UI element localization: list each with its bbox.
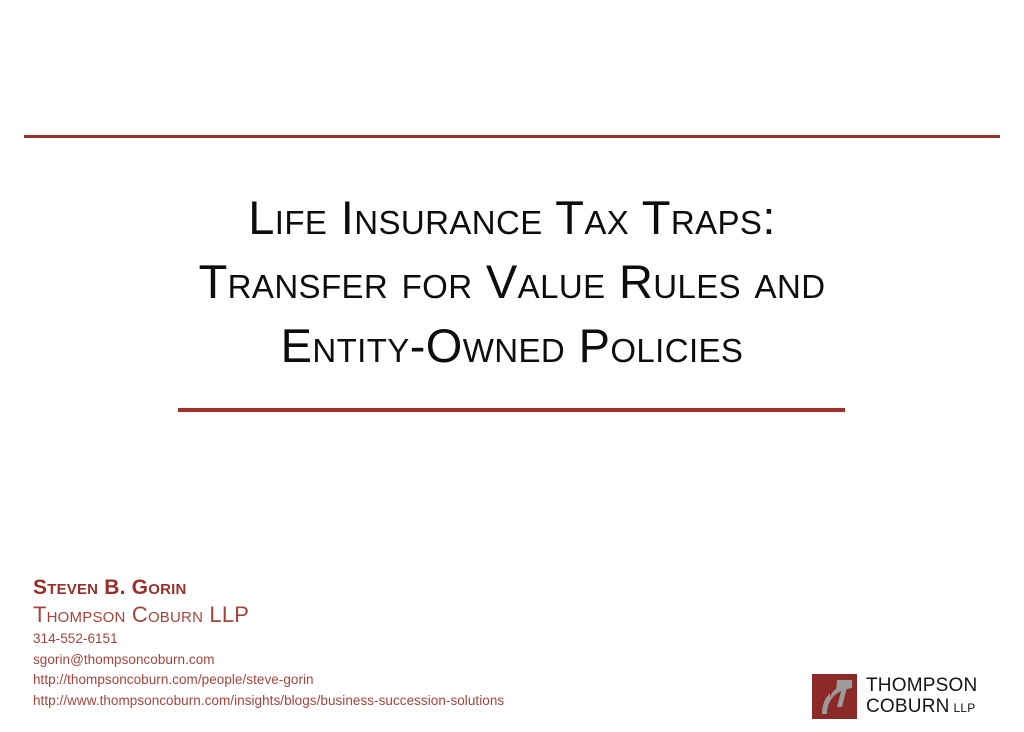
title-line-1: Life Insurance Tax Traps: <box>0 186 1024 250</box>
top-divider-rule <box>24 135 1000 138</box>
presenter-phone: 314-552-6151 <box>33 629 504 650</box>
title-line-2: Transfer for Value Rules and <box>0 250 1024 314</box>
presenter-email[interactable]: sgorin@thompsoncoburn.com <box>33 650 504 671</box>
thompson-coburn-logo: THOMPSON COBURN LLP <box>812 673 977 720</box>
logo-word-thompson: THOMPSON <box>866 675 977 696</box>
title-line-3: Entity-Owned Policies <box>0 314 1024 378</box>
presenter-name: Steven B. Gorin <box>33 574 504 601</box>
presenter-contact-block: Steven B. Gorin Thompson Coburn LLP 314-… <box>33 574 504 711</box>
logo-word-llp: LLP <box>954 698 976 719</box>
presenter-profile-link[interactable]: http://thompsoncoburn.com/people/steve-g… <box>33 670 504 691</box>
thompson-coburn-wordmark: THOMPSON COBURN LLP <box>866 675 977 719</box>
presenter-blog-link[interactable]: http://www.thompsoncoburn.com/insights/b… <box>33 691 504 712</box>
title-underline-rule <box>178 408 845 412</box>
logo-word-coburn-row: COBURN LLP <box>866 696 977 719</box>
page-title: Life Insurance Tax Traps: Transfer for V… <box>0 186 1024 378</box>
title-slide: Life Insurance Tax Traps: Transfer for V… <box>0 0 1024 732</box>
thompson-coburn-mark-icon <box>812 674 857 719</box>
presenter-firm: Thompson Coburn LLP <box>33 601 504 629</box>
logo-word-coburn: COBURN <box>866 696 950 717</box>
